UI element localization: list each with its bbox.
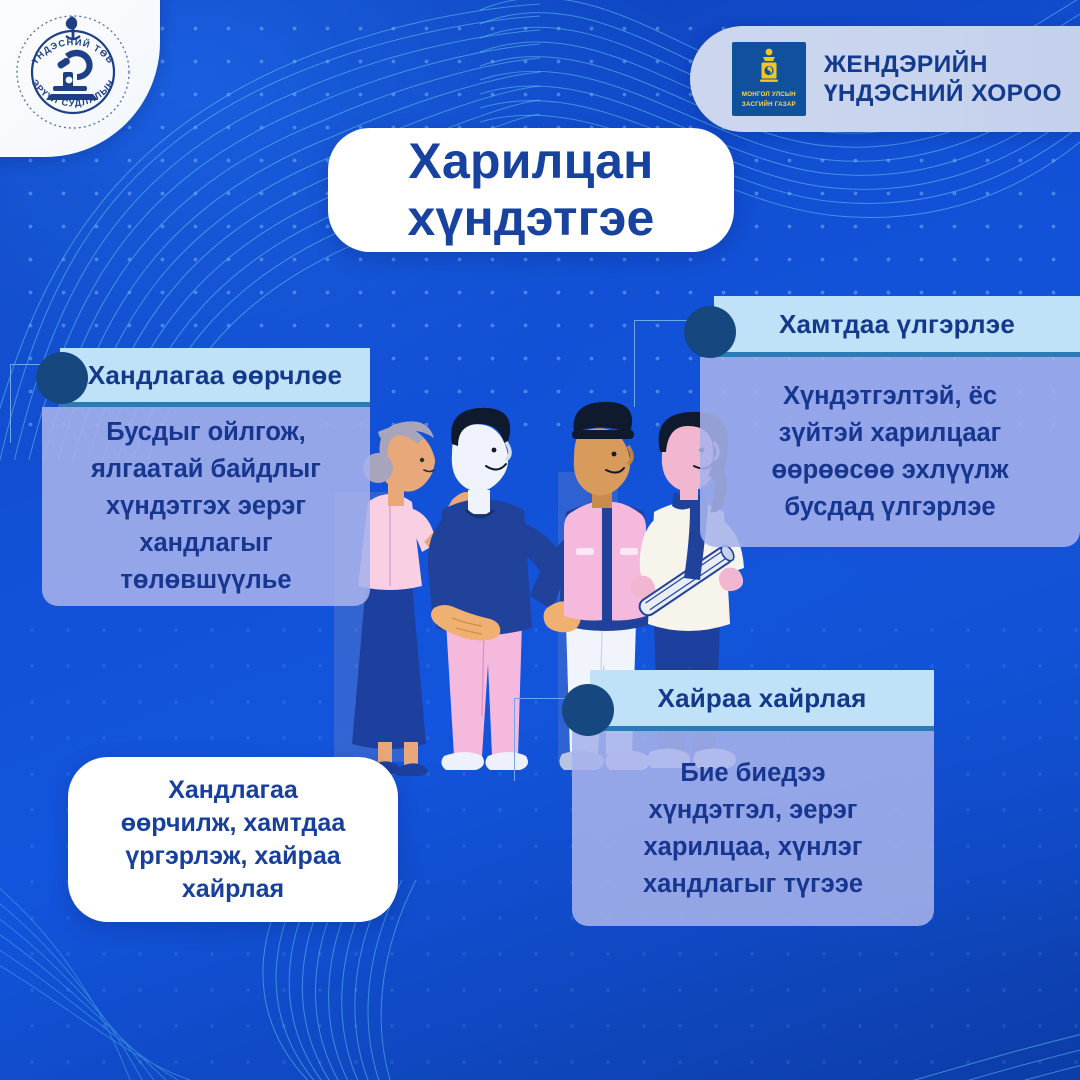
card-body: Хүндэтгэлтэй, ёс зүйтэй харилцааг өөрөөс… (700, 357, 1080, 547)
soyombo-icon (756, 47, 782, 89)
info-card-change-attitude: Хандлагаа өөрчлөе Бусдыг ойлгож, ялгаата… (36, 348, 370, 606)
emblem-caption-line1: МОНГОЛ УЛСЫН (742, 91, 796, 99)
card-heading: Хандлагаа өөрчлөе (60, 348, 370, 402)
infographic-canvas: ҮНДЭСНИЙ ТӨВ ЭРҮҮЛ СУДЛАЛЫН МОНГОЛ УЛСЫН… (0, 0, 1080, 1080)
page-title: Харилцан хүндэтгэе (328, 133, 734, 247)
mongolia-government-emblem-icon: МОНГОЛ УЛСЫН ЗАСГИЙН ГАЗАР (732, 42, 806, 116)
info-card-lead-together: Хамтдаа үлгэрлэе Хүндэтгэлтэй, ёс зүйтэй… (700, 296, 1080, 547)
seal-icon: ҮНДЭСНИЙ ТӨВ ЭРҮҮЛ СУДЛАЛЫН (13, 10, 133, 135)
card-body-text: Бие биедээ хүндэтгэл, эерэг харилцаа, хү… (643, 755, 863, 903)
main-title-card: Харилцан хүндэтгэе (328, 128, 734, 252)
gender-national-committee-logo: МОНГОЛ УЛСЫН ЗАСГИЙН ГАЗАР ЖЕНДЭРИЙН ҮНД… (690, 26, 1080, 132)
card-bullet-dot (684, 306, 736, 358)
card-heading-text: Хандлагаа өөрчлөе (60, 360, 370, 390)
emblem-caption-line2: ЗАСГИЙН ГАЗАР (742, 101, 796, 109)
card-heading: Хайраа хайрлая (590, 670, 934, 726)
card-body-text: Хүндэтгэлтэй, ёс зүйтэй харилцааг өөрөөс… (771, 378, 1008, 526)
svg-text:ЭРҮҮЛ СУДЛАЛЫН: ЭРҮҮЛ СУДЛАЛЫН (30, 78, 117, 109)
card-heading: Хамтдаа үлгэрлэе (714, 296, 1080, 352)
card-body-text: Бусдыг ойлгож, ялгаатай байдлыг хүндэтгэ… (91, 414, 321, 599)
card-bullet-dot (562, 684, 614, 736)
card-bullet-dot (36, 352, 88, 404)
card-heading-text: Хайраа хайрлая (590, 683, 934, 713)
summary-card: Хандлагаа өөрчилж, хамтдаа үргэрлэж, хай… (68, 757, 398, 922)
card-heading-text: Хамтдаа үлгэрлэе (714, 309, 1080, 339)
card-body: Бусдыг ойлгож, ялгаатай байдлыг хүндэтгэ… (42, 407, 370, 606)
public-health-center-logo: ҮНДЭСНИЙ ТӨВ ЭРҮҮЛ СУДЛАЛЫН (0, 0, 160, 157)
summary-text: Хандлагаа өөрчилж, хамтдаа үргэрлэж, хай… (105, 774, 361, 906)
card-body: Бие биедээ хүндэтгэл, эерэг харилцаа, хү… (572, 731, 934, 926)
info-card-share-love: Хайраа хайрлая Бие биедээ хүндэтгэл, эер… (566, 670, 934, 926)
organization-name: ЖЕНДЭРИЙН ҮНДЭСНИЙ ХОРОО (824, 50, 1062, 108)
